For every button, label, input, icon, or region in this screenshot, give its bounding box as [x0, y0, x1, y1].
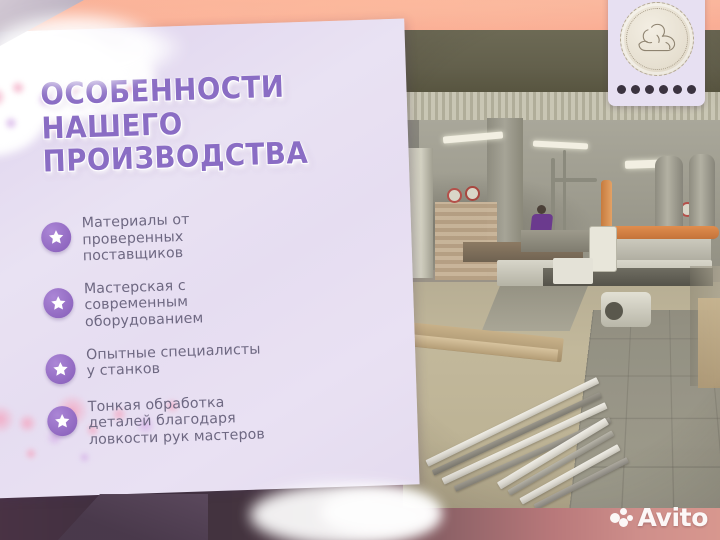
list-item-text: Мастерская с современным оборудованием: [84, 275, 204, 331]
photo-floor-strip: [482, 285, 589, 331]
list-item: Опытные специалисты у станков: [45, 336, 356, 384]
logo-dots-row: [617, 85, 696, 94]
photo-drum-opening: [605, 302, 623, 320]
photo-duct-vertical: [601, 180, 612, 230]
page-title: ОСОБЕННОСТИ НАШЕГО ПРОИЗВОДСТВА: [40, 69, 319, 179]
list-item-line: у станков: [86, 361, 160, 379]
sleeping-figure-seal-icon: [620, 2, 694, 76]
blossom-icon: [17, 413, 38, 434]
logo-dot: [631, 85, 640, 94]
star-icon: [43, 287, 74, 318]
photo-pipe: [551, 178, 597, 182]
blossom-icon: [24, 447, 37, 460]
list-item-text: Тонкая обработка деталей благодаря ловко…: [88, 391, 266, 449]
avito-wordmark: Avito: [638, 505, 708, 530]
cloud-shape: [320, 488, 440, 536]
star-icon: [41, 222, 72, 253]
features-list: Материалы от проверенных поставщиков Мас…: [40, 204, 358, 464]
logo-dot: [673, 85, 682, 94]
star-icon: [47, 405, 78, 436]
list-item: Материалы от проверенных поставщиков: [40, 204, 352, 266]
list-item-line: поставщиков: [83, 245, 184, 264]
star-icon: [45, 353, 76, 384]
list-item-text: Материалы от проверенных поставщиков: [81, 210, 190, 265]
avito-dot: [620, 508, 627, 515]
list-item: Тонкая обработка деталей благодаря ловко…: [47, 388, 359, 450]
blossom-icon: [0, 404, 16, 435]
photo-worker-head: [537, 205, 546, 214]
photo-wall-sign: [465, 186, 480, 201]
photo-cloth: [553, 258, 593, 284]
list-item-text: Опытные специалисты у станков: [86, 339, 262, 380]
photo-wall-sign: [447, 188, 462, 203]
avito-watermark: Avito: [610, 505, 708, 530]
photo-right-doorway: [698, 298, 720, 388]
photo-machine-panel: [589, 226, 617, 272]
logo-dot: [659, 85, 668, 94]
avito-dots-icon: [610, 508, 633, 528]
photo-workbench: [521, 230, 599, 252]
features-card: ОСОБЕННОСТИ НАШЕГО ПРОИЗВОДСТВА Материал…: [0, 19, 420, 500]
listing-image-canvas: ОСОБЕННОСТИ НАШЕГО ПРОИЗВОДСТВА Материал…: [0, 0, 720, 540]
avito-dot: [627, 515, 633, 521]
photo-duct-horizontal: [599, 226, 719, 239]
list-item-line: оборудованием: [85, 310, 204, 330]
photo-pipe: [563, 150, 566, 236]
list-item: Мастерская с современным оборудованием: [43, 270, 355, 332]
logo-dot: [645, 85, 654, 94]
brand-logo-card: [608, 0, 705, 106]
list-item-line: Опытные специалисты: [86, 341, 261, 363]
logo-dot: [617, 85, 626, 94]
photo-wood-panels-stack: [435, 202, 497, 280]
logo-dot: [687, 85, 696, 94]
